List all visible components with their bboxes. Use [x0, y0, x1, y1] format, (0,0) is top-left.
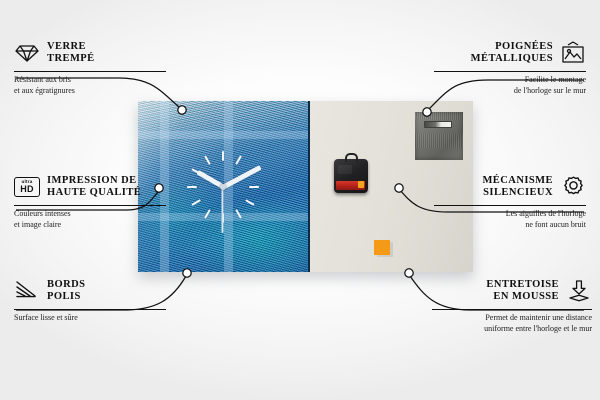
feature-description: Permet de maintenir une distanceuniforme… [432, 313, 592, 334]
divider [432, 309, 592, 310]
feature-header: ultra HD IMPRESSION DEHAUTE QUALITÉ [14, 172, 166, 202]
feature-title: VERRETREMPÉ [47, 41, 166, 65]
ultra-hd-icon: ultra HD [14, 174, 40, 200]
feature-description: Surface lisse et sûre [14, 313, 166, 324]
feature-header: POIGNÉESMÉTALLIQUES [434, 38, 586, 68]
divider [434, 71, 586, 72]
ultra-hd-main-label: HD [20, 185, 33, 194]
feature-poignees-metalliques: POIGNÉESMÉTALLIQUES Facilite le montaged… [434, 38, 586, 96]
divider [434, 205, 586, 206]
wall-frame-hook-icon [560, 40, 586, 66]
product-image-group [138, 101, 473, 272]
feature-description: Résistant aux briset aux égratignures [14, 75, 166, 96]
arrow-down-layers-icon [566, 278, 592, 304]
feature-description: Les aiguilles de l'horlogene font aucun … [434, 209, 586, 230]
mechanism-hanging-loop [345, 153, 358, 162]
clock-mechanism [334, 159, 368, 193]
feature-entretoise-en-mousse: ENTRETOISEEN MOUSSE Permet de maintenir … [432, 276, 592, 334]
feature-impression-haute-qualite: ultra HD IMPRESSION DEHAUTE QUALITÉ Coul… [14, 172, 166, 230]
feature-description: Facilite le montagede l'horloge sur le m… [434, 75, 586, 96]
feature-title: POIGNÉESMÉTALLIQUES [434, 41, 553, 65]
feature-title: IMPRESSION DEHAUTE QUALITÉ [47, 175, 166, 199]
aa-battery [336, 181, 365, 190]
feature-header: MÉCANISMESILENCIEUX [434, 172, 586, 202]
clock-center-cap [220, 184, 226, 190]
battery-positive-terminal [358, 181, 364, 188]
feature-verre-trempe: VERRETREMPÉ Résistant aux briset aux égr… [14, 38, 166, 96]
feature-header: BORDSPOLIS [14, 276, 166, 306]
hanger-keyhole-slot [424, 121, 452, 128]
divider [14, 309, 166, 310]
metal-hanger-plate [415, 112, 463, 160]
feature-title: BORDSPOLIS [47, 279, 166, 303]
divider [14, 205, 166, 206]
polished-edges-icon [14, 278, 40, 304]
feature-title: ENTRETOISEEN MOUSSE [432, 279, 559, 303]
feature-header: VERRETREMPÉ [14, 38, 166, 68]
feature-bords-polis: BORDSPOLIS Surface lisse et sûre [14, 276, 166, 324]
divider [14, 71, 166, 72]
foam-spacer [374, 240, 390, 255]
infographic-canvas: VERRETREMPÉ Résistant aux briset aux égr… [0, 0, 600, 400]
gear-icon [560, 174, 586, 200]
feature-description: Couleurs intenseset image claire [14, 209, 166, 230]
feature-header: ENTRETOISEEN MOUSSE [432, 276, 592, 306]
mechanism-housing-detail [338, 165, 352, 174]
diamond-icon [14, 40, 40, 66]
feature-mecanisme-silencieux: MÉCANISMESILENCIEUX Les aiguilles de l'h… [434, 172, 586, 230]
feature-title: MÉCANISMESILENCIEUX [434, 175, 553, 199]
